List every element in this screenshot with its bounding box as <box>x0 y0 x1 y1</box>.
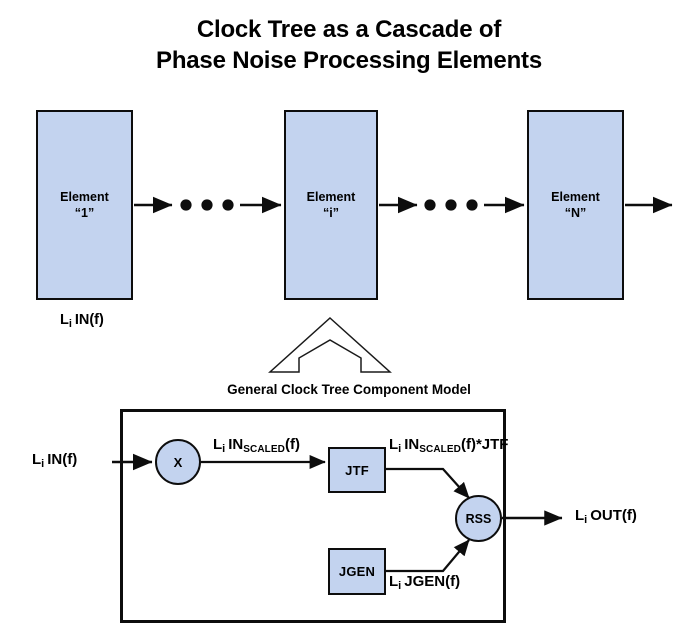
model-input-signal-label: Li IN(f) <box>32 451 77 468</box>
sig-subscript: i <box>584 514 587 526</box>
element-label: Element <box>551 189 600 205</box>
scaled-times-jtf-label: Li INSCALED(f)*JTF <box>389 436 508 453</box>
jgen-block[interactable]: JGEN <box>328 548 386 595</box>
sig-subscript: i <box>41 458 44 470</box>
cascade-element-1[interactable]: Element “1” <box>36 110 133 300</box>
cascade-element-i[interactable]: Element “i” <box>284 110 378 300</box>
sig-subscript: i <box>69 318 72 330</box>
sig-subscript: i <box>398 443 401 455</box>
sig-subscript-2: SCALED <box>419 444 461 455</box>
sig-subscript: i <box>398 580 401 592</box>
jtf-label: JTF <box>345 463 369 478</box>
element-index: “1” <box>75 205 94 221</box>
scaled-signal-label: Li INSCALED(f) <box>213 436 300 453</box>
sig-rest: IN(f) <box>75 312 104 328</box>
jgen-label: JGEN <box>339 564 375 579</box>
sig-base: L <box>389 436 398 453</box>
rss-label: RSS <box>466 512 492 526</box>
sig-mid: IN <box>228 436 243 453</box>
sig-rest: IN(f) <box>47 451 77 468</box>
sig-rest: OUT(f) <box>590 507 637 524</box>
model-output-signal-label: Li OUT(f) <box>575 507 637 524</box>
sig-base: L <box>60 312 69 328</box>
rss-node[interactable]: RSS <box>455 495 502 542</box>
sig-base: L <box>575 507 584 524</box>
sig-subscript: i <box>222 443 225 455</box>
sig-rest: (f) <box>285 436 300 453</box>
jtf-block[interactable]: JTF <box>328 447 386 493</box>
element-index: “N” <box>565 205 587 221</box>
sig-rest: (f)*JTF <box>461 436 509 453</box>
diagram-canvas: Clock Tree as a Cascade of Phase Noise P… <box>0 0 698 640</box>
sig-subscript-2: SCALED <box>243 444 285 455</box>
sig-base: L <box>32 451 41 468</box>
element-label: Element <box>307 189 356 205</box>
element-label: Element <box>60 189 109 205</box>
sig-base: L <box>389 573 398 590</box>
multiplier-label: X <box>174 455 183 470</box>
model-caption: General Clock Tree Component Model <box>0 382 698 397</box>
ellipsis-dots-left <box>180 199 233 210</box>
callout-up-arrow-icon <box>270 318 390 372</box>
cascade-element-n[interactable]: Element “N” <box>527 110 624 300</box>
ellipsis-dots-right <box>424 199 477 210</box>
jgen-signal-label: Li JGEN(f) <box>389 573 460 590</box>
sig-base: L <box>213 436 222 453</box>
sig-rest: JGEN(f) <box>404 573 460 590</box>
multiplier-node[interactable]: X <box>155 439 201 485</box>
sig-mid: IN <box>404 436 419 453</box>
element-index: “i” <box>323 205 339 221</box>
cascade-input-label: Li IN(f) <box>60 312 104 328</box>
